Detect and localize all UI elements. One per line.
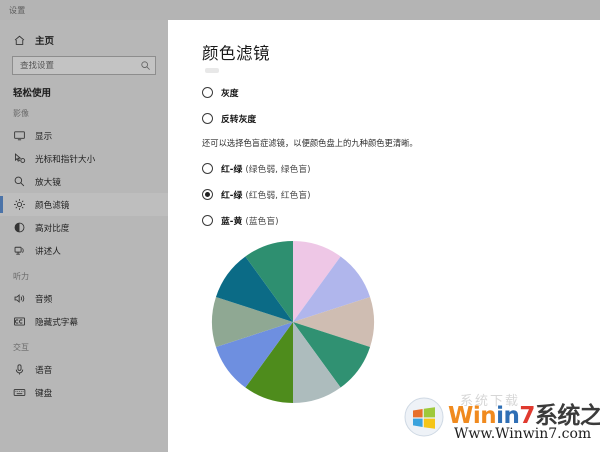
sidebar-item-speech[interactable]: 语音 bbox=[0, 358, 168, 381]
radio-label-sub: (红色弱, 红色盲) bbox=[245, 191, 310, 201]
radio-label: 蓝-黄 (蓝色盲) bbox=[221, 214, 279, 227]
radio-label-main: 蓝-黄 bbox=[221, 217, 242, 227]
sidebar-item-high-contrast[interactable]: 高对比度 bbox=[0, 216, 168, 239]
sidebar-item-closed-captions[interactable]: 隐藏式字幕 bbox=[0, 310, 168, 333]
magnifier-icon bbox=[13, 175, 26, 188]
keyboard-icon bbox=[13, 386, 26, 399]
color-wheel-container bbox=[211, 240, 600, 404]
cursor-pointer-icon bbox=[13, 152, 26, 165]
microphone-icon bbox=[13, 363, 26, 376]
radio-indicator[interactable] bbox=[202, 189, 213, 200]
sidebar-item-magnifier[interactable]: 放大镜 bbox=[0, 170, 168, 193]
sidebar-item-label: 显示 bbox=[35, 130, 52, 142]
sidebar-item-label: 颜色滤镜 bbox=[35, 199, 69, 211]
color-filter-toggle[interactable] bbox=[205, 68, 219, 73]
sidebar-item-narrator[interactable]: 讲述人 bbox=[0, 239, 168, 262]
sidebar: 主页 轻松使用 影像 显示 bbox=[0, 20, 168, 452]
color-filter-icon bbox=[13, 198, 26, 211]
radio-option-grayscale[interactable]: 灰度 bbox=[202, 86, 600, 99]
sidebar-item-audio[interactable]: 音频 bbox=[0, 287, 168, 310]
radio-label-main: 红-绿 bbox=[221, 191, 242, 201]
page-title: 颜色滤镜 bbox=[202, 40, 600, 64]
radio-label-sub: (蓝色盲) bbox=[245, 217, 278, 227]
sidebar-item-color-filters[interactable]: 颜色滤镜 bbox=[0, 193, 168, 216]
home-icon bbox=[13, 34, 26, 47]
radio-label-sub: (绿色弱, 绿色盲) bbox=[245, 165, 310, 175]
sidebar-item-home[interactable]: 主页 bbox=[0, 28, 168, 52]
sidebar-item-label: 音频 bbox=[35, 293, 52, 305]
sidebar-group-label-hearing: 听力 bbox=[0, 271, 168, 282]
sidebar-item-cursor-pointer-size[interactable]: 光标和指针大小 bbox=[0, 147, 168, 170]
sidebar-item-label: 键盘 bbox=[35, 387, 52, 399]
window-title-bar: 设置 bbox=[0, 0, 600, 20]
closed-caption-icon bbox=[13, 315, 26, 328]
contrast-icon bbox=[13, 221, 26, 234]
search-box[interactable] bbox=[12, 56, 156, 75]
sidebar-item-keyboard[interactable]: 键盘 bbox=[0, 381, 168, 404]
radio-label: 反转灰度 bbox=[221, 112, 256, 125]
radio-indicator[interactable] bbox=[202, 215, 213, 226]
color-wheel-preview bbox=[211, 240, 375, 404]
narrator-icon bbox=[13, 244, 26, 257]
radio-option-inverted-grayscale[interactable]: 反转灰度 bbox=[202, 112, 600, 125]
radio-label: 红-绿 (绿色弱, 绿色盲) bbox=[221, 162, 311, 175]
window-body: 主页 轻松使用 影像 显示 bbox=[0, 20, 600, 452]
sidebar-home-label: 主页 bbox=[35, 33, 54, 47]
radio-label: 红-绿 (红色弱, 红色盲) bbox=[221, 188, 311, 201]
sidebar-group-label-vision: 影像 bbox=[0, 108, 168, 119]
colorblind-description: 还可以选择色盲症滤镜，以便颜色盘上的九种颜色更清晰。 bbox=[202, 138, 600, 150]
audio-icon bbox=[13, 292, 26, 305]
radio-indicator[interactable] bbox=[202, 87, 213, 98]
main-content: 颜色滤镜 灰度 反转灰度 还可以选择色盲症滤镜，以便颜色盘上的九种颜色更清晰。 … bbox=[168, 20, 600, 452]
sidebar-group-label-interaction: 交互 bbox=[0, 342, 168, 353]
sidebar-item-label: 隐藏式字幕 bbox=[35, 316, 78, 328]
sidebar-item-label: 讲述人 bbox=[35, 245, 61, 257]
radio-indicator[interactable] bbox=[202, 113, 213, 124]
sidebar-item-label: 语音 bbox=[35, 364, 52, 376]
radio-option-blue-yellow-tritan[interactable]: 蓝-黄 (蓝色盲) bbox=[202, 214, 600, 227]
sidebar-item-label: 光标和指针大小 bbox=[35, 153, 95, 165]
monitor-icon bbox=[13, 129, 26, 142]
window-title: 设置 bbox=[9, 5, 26, 16]
sidebar-section-title: 轻松使用 bbox=[0, 85, 168, 99]
search-icon[interactable] bbox=[140, 60, 151, 71]
radio-option-red-green-protan[interactable]: 红-绿 (红色弱, 红色盲) bbox=[202, 188, 600, 201]
sidebar-item-display[interactable]: 显示 bbox=[0, 124, 168, 147]
sidebar-item-label: 高对比度 bbox=[35, 222, 69, 234]
radio-label: 灰度 bbox=[221, 86, 239, 99]
search-input[interactable] bbox=[20, 61, 140, 71]
radio-label-main: 红-绿 bbox=[221, 165, 242, 175]
radio-option-red-green-deuteran[interactable]: 红-绿 (绿色弱, 绿色盲) bbox=[202, 162, 600, 175]
settings-window: 设置 主页 轻松使用 bbox=[0, 0, 600, 452]
sidebar-item-label: 放大镜 bbox=[35, 176, 61, 188]
radio-indicator[interactable] bbox=[202, 163, 213, 174]
